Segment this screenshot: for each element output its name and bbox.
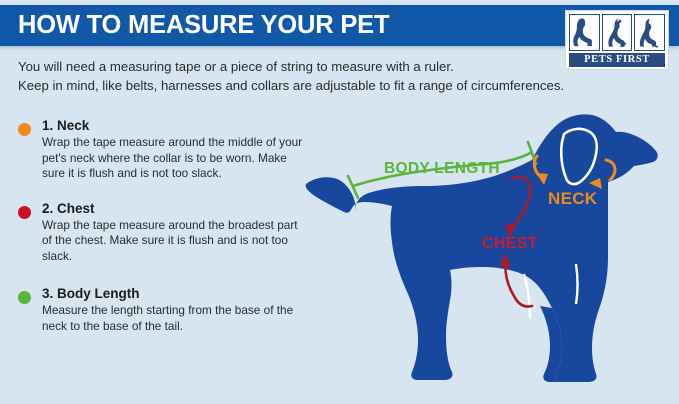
chest-label: CHEST (482, 235, 538, 252)
intro-line-1: You will need a measuring tape or a piec… (18, 57, 618, 76)
neck-label: NECK (548, 189, 598, 208)
measurement-steps-list: 1. Neck Wrap the tape measure around the… (16, 118, 304, 350)
body-length-label: BODY LENGTH (384, 160, 500, 177)
bullet-neck-icon (18, 123, 31, 136)
step-title-chest: 2. Chest (42, 201, 304, 216)
dog-sitting-icon (569, 14, 600, 51)
step-item-neck: 1. Neck Wrap the tape measure around the… (16, 118, 304, 182)
step-title-neck: 1. Neck (42, 118, 304, 133)
intro-line-2: Keep in mind, like belts, harnesses and … (18, 76, 618, 95)
step-desc-chest: Wrap the tape measure around the broades… (42, 218, 304, 265)
bullet-body-length-icon (18, 291, 31, 304)
intro-paragraph: You will need a measuring tape or a piec… (18, 57, 618, 95)
step-desc-body-length: Measure the length starting from the bas… (42, 303, 304, 334)
bullet-chest-icon (18, 206, 31, 219)
logo-frames (569, 14, 665, 51)
dog-measurement-diagram: BODY LENGTH CHEST NECK (300, 108, 679, 404)
step-item-chest: 2. Chest Wrap the tape measure around th… (16, 201, 304, 265)
infographic-page: HOW TO MEASURE YOUR PET (0, 0, 679, 404)
dog-standing-icon (634, 14, 665, 51)
step-desc-neck: Wrap the tape measure around the middle … (42, 135, 304, 182)
dog-begging-icon (602, 14, 633, 51)
step-item-body-length: 3. Body Length Measure the length starti… (16, 286, 304, 334)
step-title-body-length: 3. Body Length (42, 286, 304, 301)
page-title: HOW TO MEASURE YOUR PET (18, 10, 389, 39)
